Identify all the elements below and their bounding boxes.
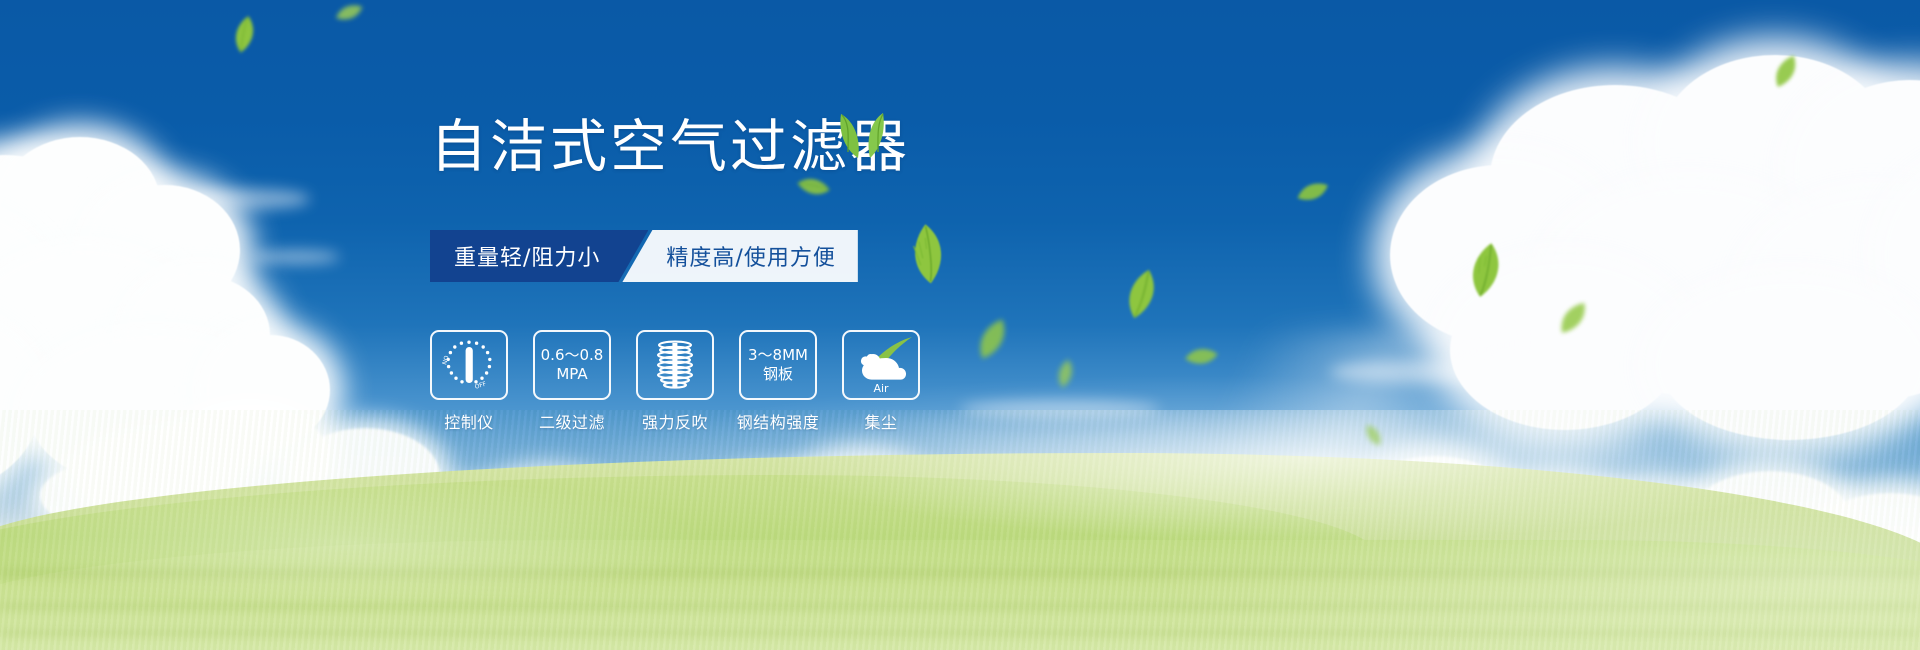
steel-line-2: 钢板: [748, 365, 808, 384]
feature-item-strong-backflush[interactable]: 强力反吹: [636, 330, 714, 433]
feature-icon-box: 0.6～0.8 MPA: [533, 330, 611, 400]
feature-icon-box: 3～8MM 钢板: [739, 330, 817, 400]
feature-caption: 二级过滤: [539, 409, 605, 433]
feature-caption: 集尘: [864, 409, 897, 433]
badge-left-segment: 重量轻/阻力小: [430, 230, 648, 282]
gauge-dial-icon: NO OFF: [438, 337, 500, 393]
feature-icon-box: NO OFF: [430, 330, 508, 400]
badge-right-label: 精度高/使用方便: [666, 240, 835, 272]
two-leaf-sprout-icon: [828, 108, 898, 160]
product-hero-banner: 自洁式空气过滤器 重量轻/阻力小 精度高/使用方便: [0, 0, 1920, 650]
pressure-value-text-icon: 0.6～0.8 MPA: [541, 346, 604, 384]
steel-plate-thickness-text-icon: 3～8MM 钢板: [748, 346, 808, 384]
feature-caption: 强力反吹: [642, 409, 708, 433]
feature-icon-box: [636, 330, 714, 400]
badge-left-label: 重量轻/阻力小: [454, 240, 600, 272]
air-cloud-icon: Air: [846, 335, 916, 397]
steel-line-1: 3～8MM: [748, 346, 808, 365]
feature-icon-box: Air: [842, 330, 920, 400]
pressure-line-1: 0.6～0.8: [541, 346, 604, 365]
feature-caption: 钢结构强度: [737, 409, 820, 433]
filter-cartridge-coil-icon: [648, 337, 702, 393]
banner-content: 自洁式空气过滤器 重量轻/阻力小 精度高/使用方便: [0, 0, 1920, 650]
air-label: Air: [873, 382, 889, 395]
pressure-line-2: MPA: [541, 365, 604, 384]
feature-item-two-stage-filtration[interactable]: 0.6～0.8 MPA 二级过滤: [533, 330, 611, 433]
feature-icon-row: NO OFF 控制仪 0.6～0.8 MPA 二级过滤: [430, 330, 920, 433]
feature-tagline-badge: 重量轻/阻力小 精度高/使用方便: [430, 230, 858, 282]
feature-caption: 控制仪: [444, 409, 494, 433]
svg-text:NO: NO: [441, 355, 451, 366]
badge-right-segment: 精度高/使用方便: [622, 230, 857, 282]
feature-item-dust-collection[interactable]: Air 集尘: [842, 330, 920, 433]
feature-item-control-instrument[interactable]: NO OFF 控制仪: [430, 330, 508, 433]
feature-item-steel-strength[interactable]: 3～8MM 钢板 钢结构强度: [739, 330, 817, 433]
